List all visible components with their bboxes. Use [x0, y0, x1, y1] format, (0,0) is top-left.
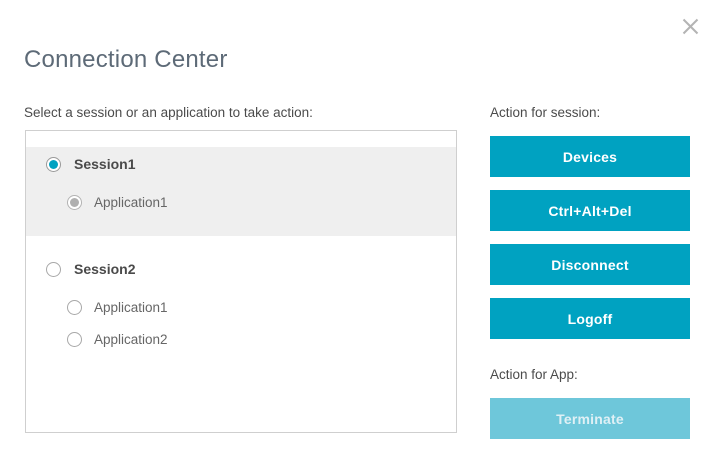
- application-radio[interactable]: [67, 300, 82, 315]
- action-for-session-label: Action for session:: [490, 104, 690, 122]
- action-for-app-label: Action for App:: [490, 366, 690, 384]
- devices-button[interactable]: Devices: [490, 136, 690, 177]
- session-row-session2[interactable]: Session2: [26, 252, 456, 286]
- session-list: Session1Application1Session2Application1…: [25, 130, 457, 433]
- instruction-text: Select a session or an application to ta…: [24, 104, 313, 122]
- close-button[interactable]: [676, 12, 704, 40]
- group-spacer: [26, 355, 456, 373]
- session-radio-session2[interactable]: [46, 262, 61, 277]
- disconnect-button[interactable]: Disconnect: [490, 244, 690, 285]
- session-label: Session2: [74, 261, 135, 277]
- logoff-button[interactable]: Logoff: [490, 298, 690, 339]
- application-row[interactable]: Application1: [26, 186, 456, 218]
- application-label: Application2: [94, 332, 168, 347]
- application-radio[interactable]: [67, 195, 82, 210]
- application-row[interactable]: Application2: [26, 323, 456, 355]
- application-label: Application1: [94, 195, 168, 210]
- ctrl-alt-del-button[interactable]: Ctrl+Alt+Del: [490, 190, 690, 231]
- terminate-button: Terminate: [490, 398, 690, 439]
- session-radio-session1[interactable]: [46, 157, 61, 172]
- application-row[interactable]: Application1: [26, 291, 456, 323]
- app-action-buttons: Terminate: [490, 398, 690, 439]
- session-group: Session1Application1: [26, 147, 456, 236]
- group-spacer: [26, 218, 456, 236]
- action-panel: Action for session: DevicesCtrl+Alt+DelD…: [490, 104, 690, 439]
- radio-dot: [70, 303, 79, 312]
- radio-dot: [49, 160, 58, 169]
- radio-dot: [70, 198, 79, 207]
- application-label: Application1: [94, 300, 168, 315]
- page-title: Connection Center: [24, 44, 228, 76]
- session-group: Session2Application1Application2: [26, 252, 456, 373]
- close-icon: [682, 18, 699, 35]
- application-radio[interactable]: [67, 332, 82, 347]
- radio-dot: [70, 335, 79, 344]
- radio-dot: [49, 265, 58, 274]
- session-row-session1[interactable]: Session1: [26, 147, 456, 181]
- session-action-buttons: DevicesCtrl+Alt+DelDisconnectLogoff: [490, 136, 690, 339]
- session-label: Session1: [74, 156, 135, 172]
